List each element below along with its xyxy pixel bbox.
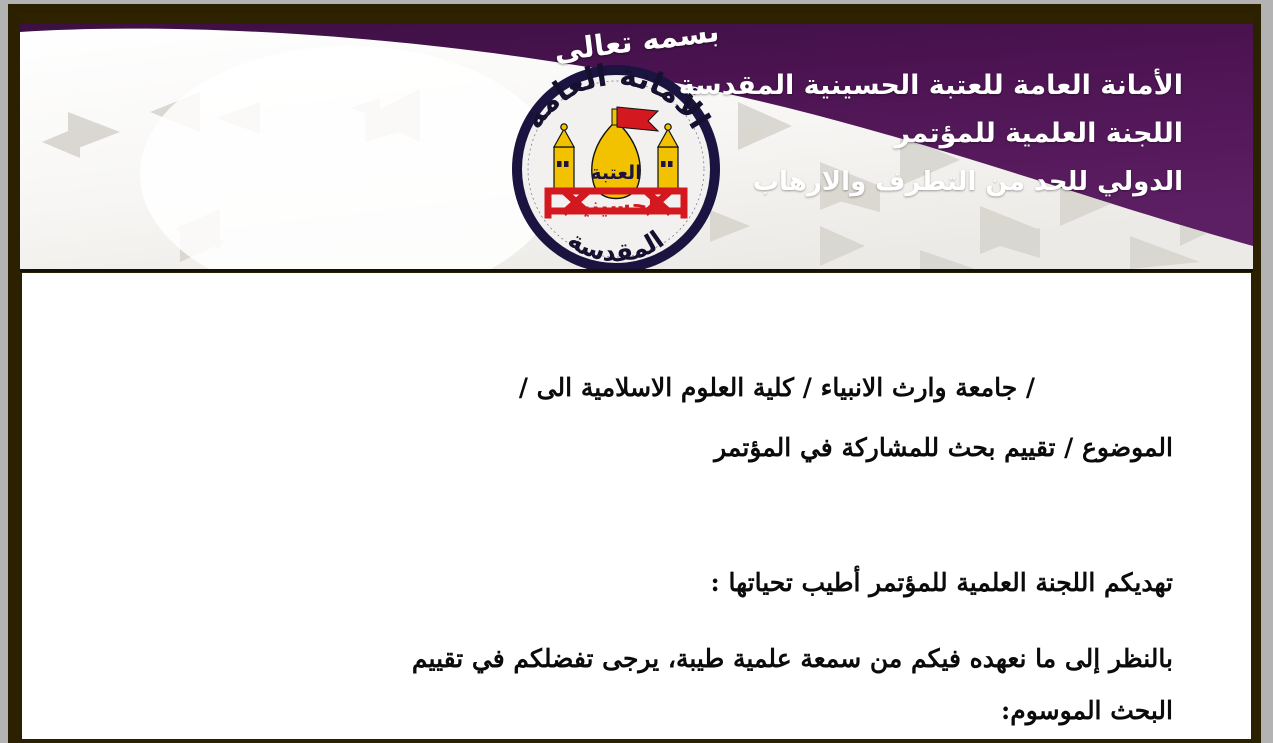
recipient-label: الى /	[519, 373, 572, 402]
recipient-value: / جامعة وارث الانبياء / كلية العلوم الاس…	[581, 373, 1035, 402]
letterhead-title-line-1: الأمانة العامة للعتبة الحسينية المقدسة	[643, 62, 1183, 110]
letterhead-titles: الأمانة العامة للعتبة الحسينية المقدسة ا…	[643, 62, 1183, 206]
body-paragraph-line-1: بالنظر إلى ما نعهده فيكم من سمعة علمية ط…	[122, 633, 1173, 685]
letter-body: / جامعة وارث الانبياء / كلية العلوم الاس…	[22, 273, 1251, 739]
svg-text:العتبة: العتبة	[590, 162, 641, 184]
letterhead-title-line-3: الدولي للحد من التطرف والارهاب	[643, 158, 1183, 206]
subject-row: الموضوع / تقييم بحث للمشاركة في المؤتمر	[714, 433, 1173, 462]
greeting-row: تهديكم اللجنة العلمية للمؤتمر أطيب تحيات…	[711, 568, 1173, 597]
letterhead-banner: بسمه تعالى الأمانة العامة المقدسة	[20, 14, 1253, 269]
document-page: بسمه تعالى الأمانة العامة المقدسة	[0, 0, 1273, 743]
body-paragraph-line-2: البحث الموسوم:	[122, 685, 1173, 737]
letterhead-title-line-2: اللجنة العلمية للمؤتمر	[643, 110, 1183, 158]
body-paragraph: بالنظر إلى ما نعهده فيكم من سمعة علمية ط…	[122, 633, 1173, 737]
recipient-row: / جامعة وارث الانبياء / كلية العلوم الاس…	[132, 373, 1173, 402]
header-separator-rule	[20, 269, 1253, 272]
letter-sheet: / جامعة وارث الانبياء / كلية العلوم الاس…	[22, 273, 1251, 739]
